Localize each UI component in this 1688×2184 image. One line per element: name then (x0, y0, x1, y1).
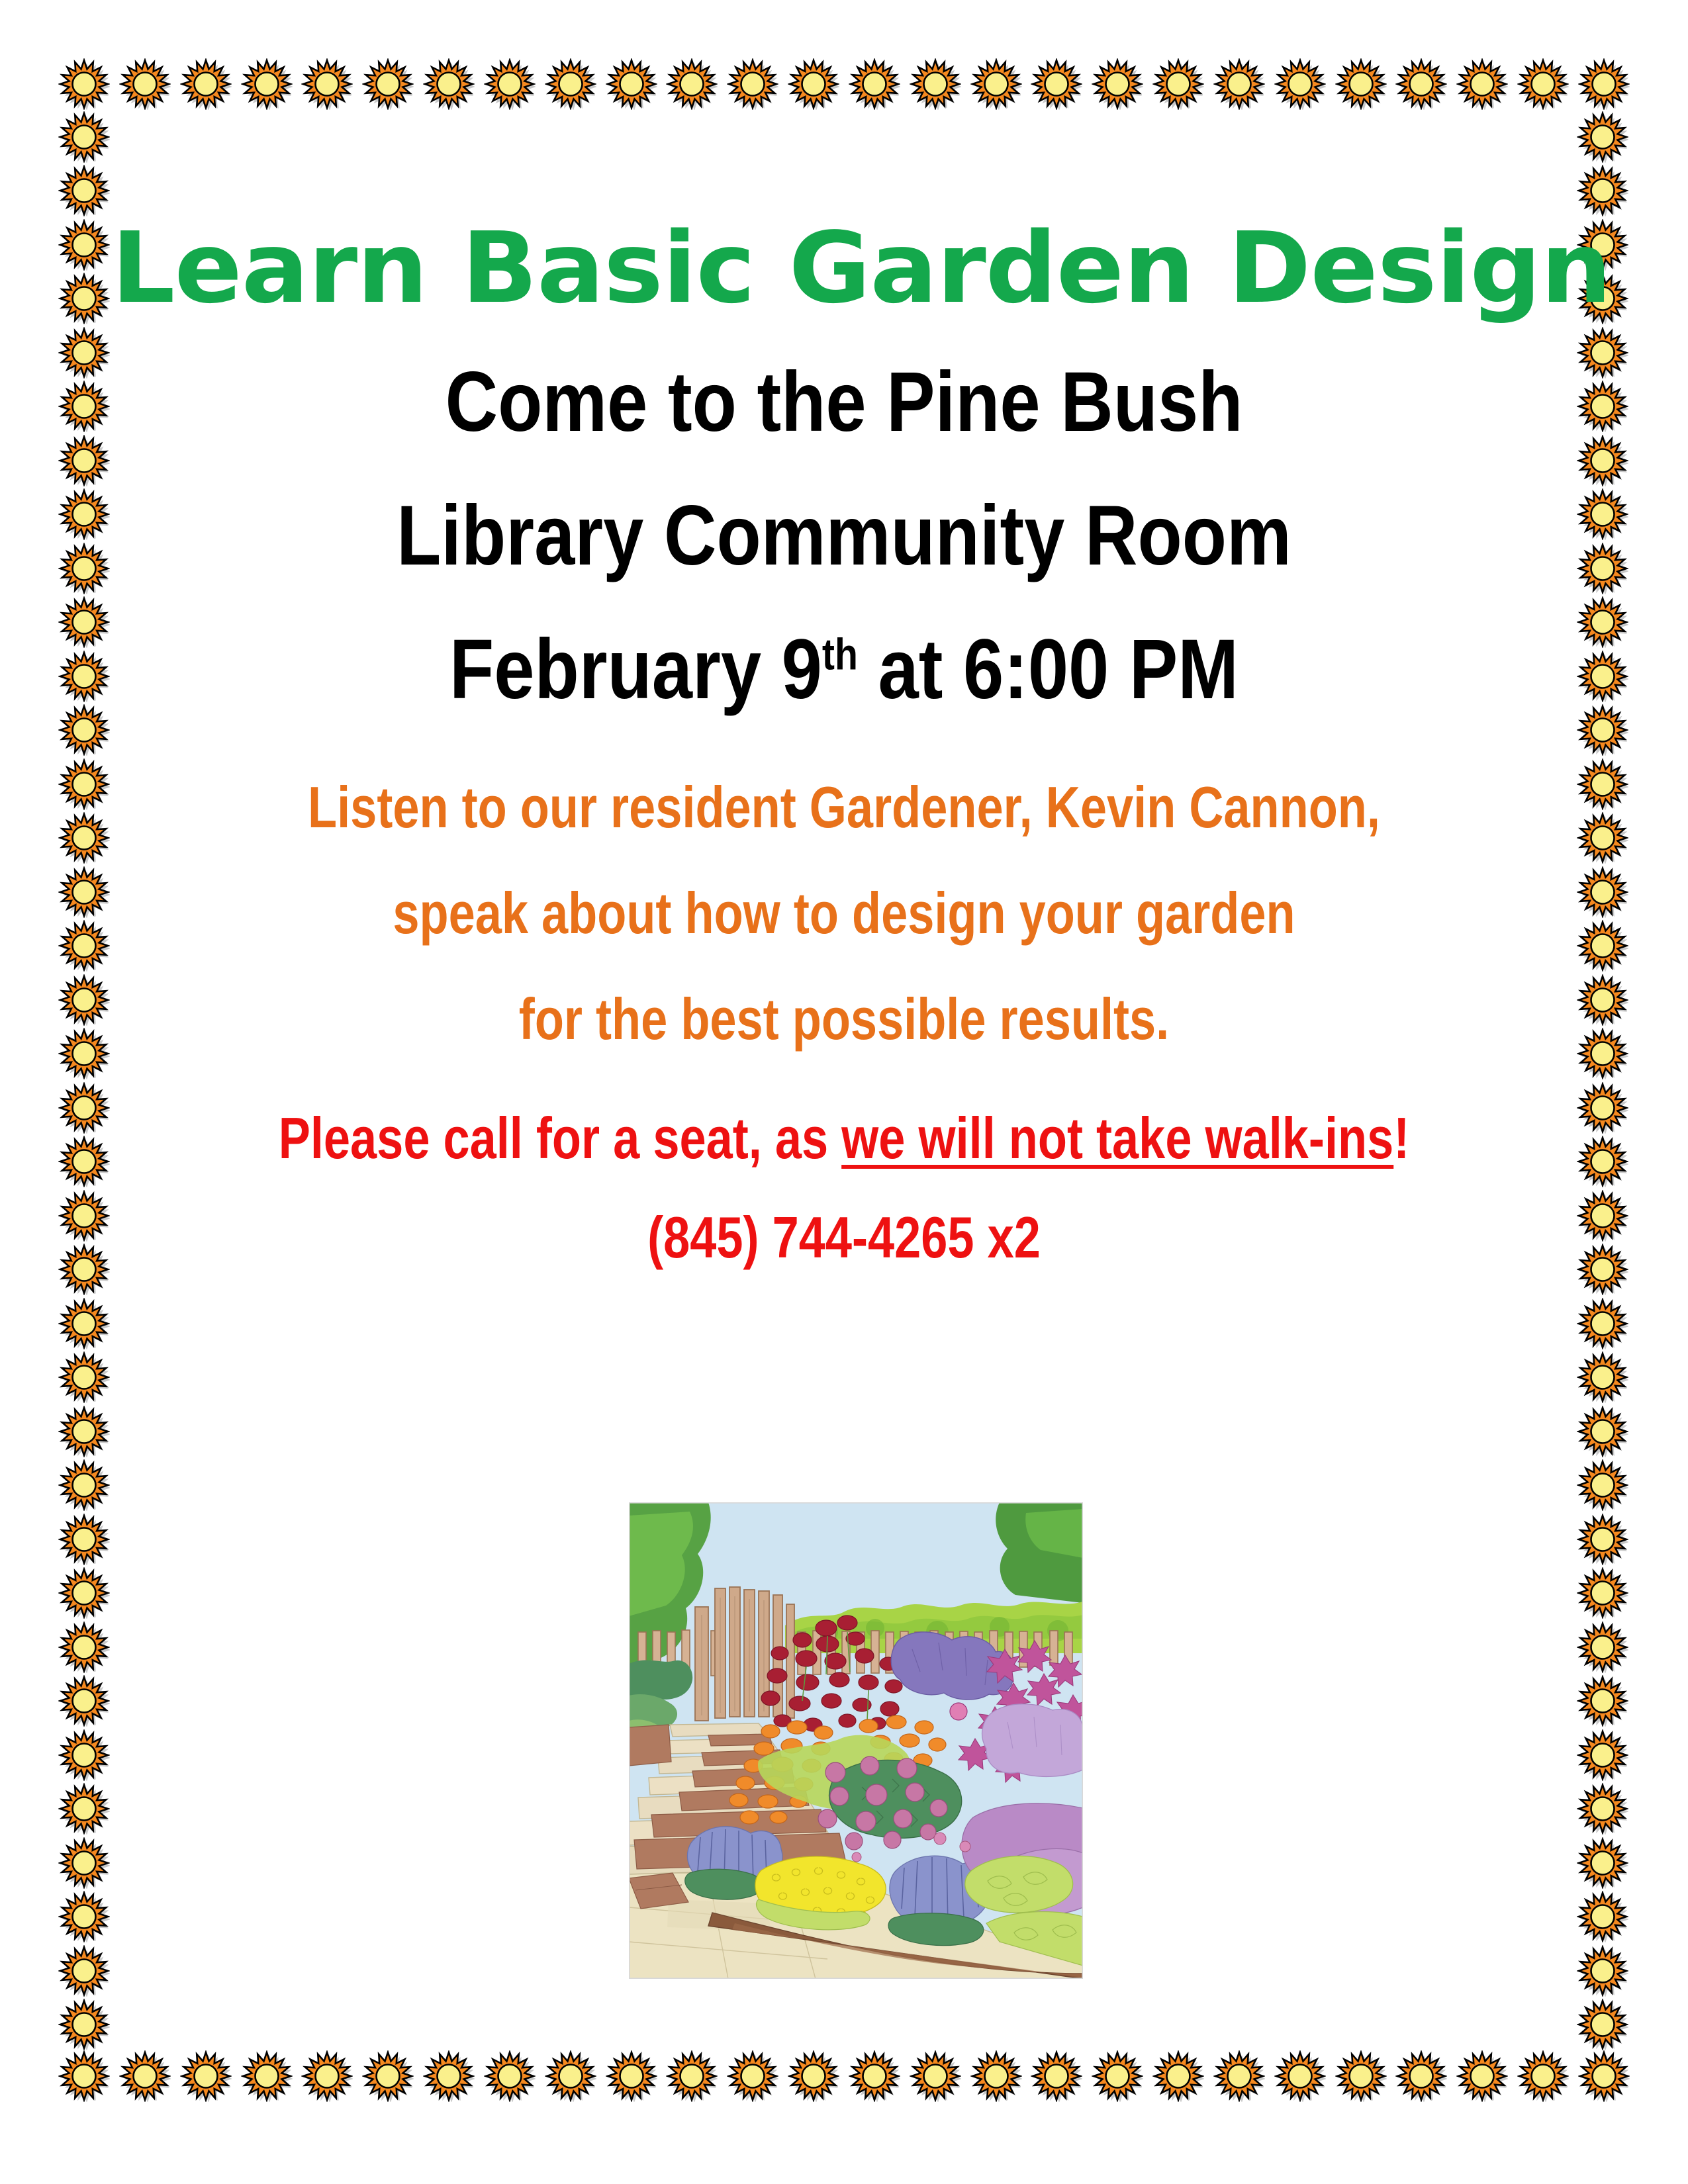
sun-icon (241, 2050, 293, 2102)
sun-icon (1577, 1190, 1628, 1242)
sun-icon (1577, 1729, 1628, 1781)
sun-icon (1213, 58, 1265, 110)
sun-icon (970, 2050, 1022, 2102)
sun-icon (119, 58, 171, 110)
sun-icon (1577, 651, 1628, 702)
garden-illustration (629, 1502, 1083, 1979)
sun-icon (545, 2050, 596, 2102)
sun-border-bottom (58, 2050, 1630, 2103)
date-prefix: February 9 (449, 622, 822, 717)
sun-icon (58, 381, 110, 432)
sun-icon (1577, 1459, 1628, 1511)
sun-icon (1577, 596, 1628, 648)
sun-icon (58, 1244, 110, 1295)
sun-icon (1152, 2050, 1204, 2102)
sun-icon (1577, 1675, 1628, 1727)
sun-icon (1152, 58, 1204, 110)
sun-icon (58, 758, 110, 810)
garden-illustration-svg (629, 1502, 1083, 1979)
sun-icon (1577, 974, 1628, 1026)
sun-icon (788, 58, 839, 110)
sun-icon (1577, 111, 1628, 163)
sun-icon (1213, 2050, 1265, 2102)
sun-icon (423, 58, 475, 110)
sun-icon (1577, 704, 1628, 756)
sun-icon (727, 58, 778, 110)
sun-icon (1577, 1783, 1628, 1835)
reservation-notice: Please call for a seat, as we will not t… (255, 1087, 1432, 1191)
sun-icon (58, 1459, 110, 1511)
sun-icon (362, 58, 414, 110)
sun-icon (58, 1675, 110, 1727)
sun-icon (1456, 2050, 1508, 2102)
sun-icon (1577, 1837, 1628, 1889)
sun-icon (484, 58, 536, 110)
sun-icon (58, 219, 110, 271)
headline-line-2: Library Community Room (226, 469, 1462, 603)
sun-icon (1577, 1567, 1628, 1619)
sun-icon (58, 812, 110, 864)
sun-icon (58, 974, 110, 1026)
headline-line-1: Come to the Pine Bush (226, 336, 1462, 469)
sun-icon (1577, 1351, 1628, 1403)
sun-icon (1092, 2050, 1143, 2102)
sun-icon (1577, 758, 1628, 810)
sun-icon (1274, 58, 1326, 110)
sun-icon (58, 866, 110, 918)
sun-icon (58, 1351, 110, 1403)
sun-icon (788, 2050, 839, 2102)
sun-icon (58, 1621, 110, 1673)
sun-icon (1577, 435, 1628, 486)
sun-icon (58, 1082, 110, 1134)
sun-icon (1577, 1406, 1628, 1457)
sun-icon (58, 1783, 110, 1835)
sun-icon (484, 2050, 536, 2102)
sun-icon (180, 2050, 232, 2102)
flyer-content: Learn Basic Garden Design Come to the Pi… (126, 218, 1562, 1285)
sun-icon (1577, 1891, 1628, 1942)
description-block: Listen to our resident Gardener, Kevin C… (126, 754, 1562, 1072)
sun-icon (1577, 1945, 1628, 1997)
sun-icon (58, 596, 110, 648)
sun-icon (58, 435, 110, 486)
date-ordinal-suffix: th (822, 631, 858, 680)
sun-icon (58, 1406, 110, 1457)
sun-icon (58, 651, 110, 702)
sun-icon (1577, 1028, 1628, 1079)
sun-icon (58, 1837, 110, 1889)
sun-icon (1335, 58, 1387, 110)
sun-icon (58, 165, 110, 216)
sun-icon (58, 273, 110, 324)
notice-lead-text: Please call for a seat, as (279, 1105, 841, 1171)
sun-icon (58, 111, 110, 163)
sun-icon (1577, 165, 1628, 216)
headline-block: Come to the Pine Bush Library Community … (126, 336, 1562, 737)
sun-icon (1577, 1136, 1628, 1187)
sun-icon (727, 2050, 778, 2102)
sun-icon (606, 2050, 657, 2102)
sun-icon (58, 1945, 110, 1997)
sun-icon (58, 488, 110, 540)
sun-icon (1577, 1514, 1628, 1565)
sun-icon (58, 1891, 110, 1942)
sun-icon (545, 58, 596, 110)
sun-icon (1577, 812, 1628, 864)
sun-icon (58, 1567, 110, 1619)
sun-border-right (1577, 111, 1630, 2050)
page-title: Learn Basic Garden Design (111, 218, 1576, 318)
sun-icon (58, 1136, 110, 1187)
sun-icon (1577, 1999, 1628, 2050)
sun-icon (301, 2050, 353, 2102)
description-line-2: speak about how to design your garden (255, 860, 1432, 966)
sun-icon (58, 1999, 110, 2050)
notice-trail-text: ! (1393, 1105, 1409, 1171)
sun-icon (1456, 58, 1508, 110)
sun-icon (119, 2050, 171, 2102)
flyer-page: Learn Basic Garden Design Come to the Pi… (0, 0, 1688, 2184)
sun-icon (58, 704, 110, 756)
sun-icon (910, 58, 961, 110)
sun-icon (1335, 2050, 1387, 2102)
sun-icon (58, 920, 110, 972)
description-line-1: Listen to our resident Gardener, Kevin C… (255, 754, 1432, 860)
sun-icon (1577, 381, 1628, 432)
sun-icon (423, 2050, 475, 2102)
sun-icon (362, 2050, 414, 2102)
sun-icon (58, 1514, 110, 1565)
sun-icon (1578, 58, 1630, 110)
sun-icon (58, 543, 110, 594)
sun-icon (1395, 2050, 1447, 2102)
sun-icon (58, 1298, 110, 1349)
date-time-line: February 9th at 6:00 PM (226, 603, 1462, 737)
reservation-notice-block: Please call for a seat, as we will not t… (126, 1087, 1562, 1285)
sun-icon (58, 327, 110, 379)
sun-icon (1577, 1082, 1628, 1134)
sun-icon (58, 58, 110, 110)
sun-icon (849, 58, 900, 110)
sun-icon (1577, 866, 1628, 918)
sun-icon (666, 58, 718, 110)
time-suffix: at 6:00 PM (858, 622, 1239, 717)
sun-icon (1577, 488, 1628, 540)
sun-icon (58, 2050, 110, 2102)
sun-icon (58, 1028, 110, 1079)
notice-emphasis-text: we will not take walk-ins (841, 1105, 1393, 1171)
sun-icon (1578, 2050, 1630, 2102)
sun-icon (1577, 327, 1628, 379)
sun-border-left (58, 111, 111, 2050)
sun-icon (1577, 543, 1628, 594)
sun-icon (1031, 58, 1082, 110)
sun-icon (849, 2050, 900, 2102)
sun-icon (666, 2050, 718, 2102)
sun-icon (1517, 58, 1569, 110)
sun-icon (606, 58, 657, 110)
sun-icon (1577, 1621, 1628, 1673)
sun-border-top (58, 58, 1630, 111)
phone-number[interactable]: (845) 744-4265 x2 (255, 1191, 1432, 1285)
sun-icon (1577, 920, 1628, 972)
sun-icon (1092, 58, 1143, 110)
sun-icon (910, 2050, 961, 2102)
sun-icon (1517, 2050, 1569, 2102)
sun-icon (1577, 1244, 1628, 1295)
sun-icon (970, 58, 1022, 110)
sun-icon (1274, 2050, 1326, 2102)
sun-icon (1577, 1298, 1628, 1349)
sun-icon (1031, 2050, 1082, 2102)
sun-icon (301, 58, 353, 110)
sun-icon (241, 58, 293, 110)
description-line-3: for the best possible results. (255, 966, 1432, 1072)
sun-icon (58, 1190, 110, 1242)
sun-icon (58, 1729, 110, 1781)
sun-icon (180, 58, 232, 110)
sun-icon (1395, 58, 1447, 110)
